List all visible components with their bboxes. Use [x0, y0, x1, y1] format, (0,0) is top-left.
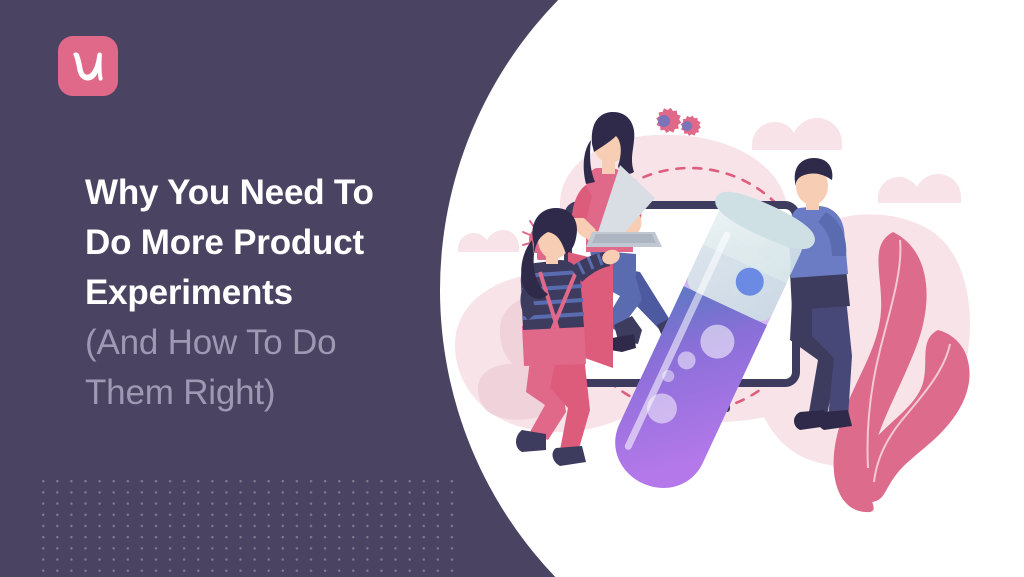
product-experiments-illustration	[0, 0, 1024, 577]
blog-banner: Why You Need To Do More Product Experime…	[0, 0, 1024, 577]
gears-icon	[656, 108, 701, 136]
